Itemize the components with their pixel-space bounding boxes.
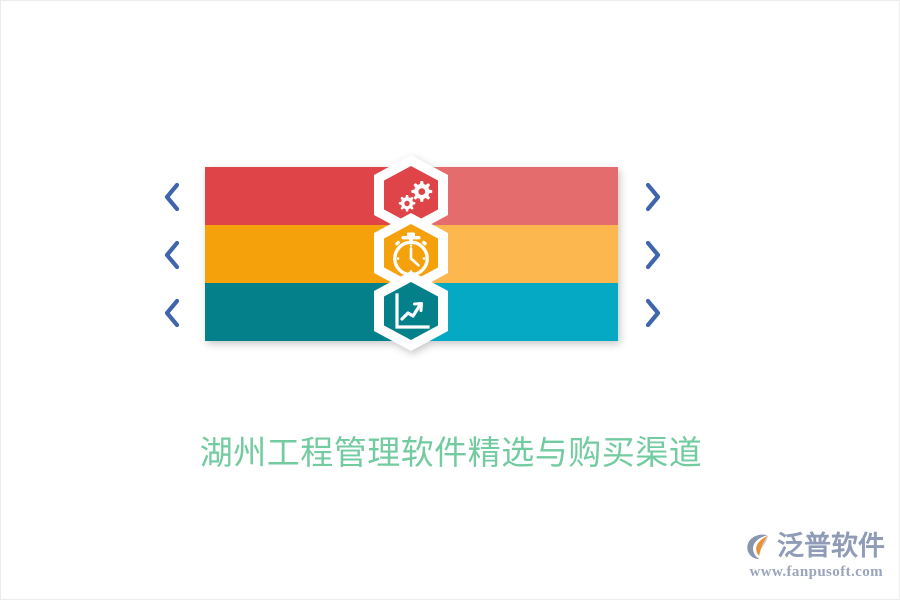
- chevron-right-icon: [648, 243, 658, 267]
- watermark-logo: 泛普软件 www.fanpusoft.com: [743, 529, 885, 587]
- watermark-url: www.fanpusoft.com: [743, 564, 885, 581]
- prev-arrow-row-3[interactable]: [161, 298, 183, 328]
- watermark-brand: 泛普软件: [777, 530, 885, 562]
- page-root: 湖州工程管理软件精选与购买渠道 泛普软件 www.fanpusoft.com: [0, 0, 900, 600]
- next-arrow-row-2[interactable]: [642, 240, 664, 270]
- next-arrow-row-1[interactable]: [642, 182, 664, 212]
- prev-arrow-row-2[interactable]: [161, 240, 183, 270]
- next-arrow-row-3[interactable]: [642, 298, 664, 328]
- chevron-left-icon: [167, 301, 177, 325]
- infographic-banner: [205, 167, 618, 341]
- page-title: 湖州工程管理软件精选与购买渠道: [1, 431, 900, 477]
- chevron-left-icon: [167, 185, 177, 209]
- watermark-row: 泛普软件: [743, 529, 885, 563]
- prev-arrow-row-1[interactable]: [161, 182, 183, 212]
- hexagon-badge-growth-chart[interactable]: [370, 269, 452, 353]
- fanpu-logo-mark: [743, 530, 775, 562]
- chevron-right-icon: [648, 185, 658, 209]
- chevron-left-icon: [167, 243, 177, 267]
- chevron-right-icon: [648, 301, 658, 325]
